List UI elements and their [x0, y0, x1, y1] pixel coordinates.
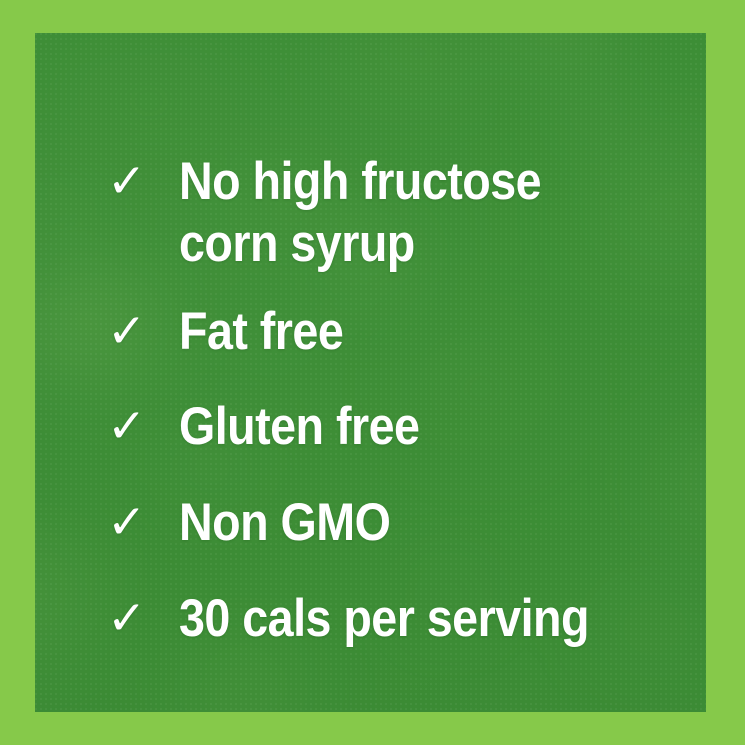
checkmark-icon: ✓ [107, 588, 179, 650]
checkmark-icon: ✓ [107, 396, 179, 458]
claims-graphic: ✓ No high fructose corn syrup ✓ Fat free… [0, 0, 745, 745]
claim-label: Gluten free [179, 396, 419, 458]
list-item: ✓ Gluten free [107, 396, 452, 458]
checkmark-icon: ✓ [107, 492, 179, 554]
claim-label: Non GMO [179, 492, 390, 554]
list-item: ✓ Non GMO [107, 492, 419, 554]
claims-panel: ✓ No high fructose corn syrup ✓ Fat free… [35, 33, 706, 712]
checkmark-icon: ✓ [107, 151, 179, 213]
claim-label: Fat free [179, 301, 343, 363]
list-item: ✓ 30 cals per serving [107, 588, 645, 650]
claim-label: 30 cals per serving [179, 588, 589, 650]
claims-list: ✓ No high fructose corn syrup ✓ Fat free… [35, 33, 706, 712]
list-item: ✓ Fat free [107, 301, 366, 363]
checkmark-icon: ✓ [107, 301, 179, 363]
list-item: ✓ No high fructose corn syrup [107, 151, 590, 275]
claim-label: No high fructose corn syrup [179, 151, 541, 275]
